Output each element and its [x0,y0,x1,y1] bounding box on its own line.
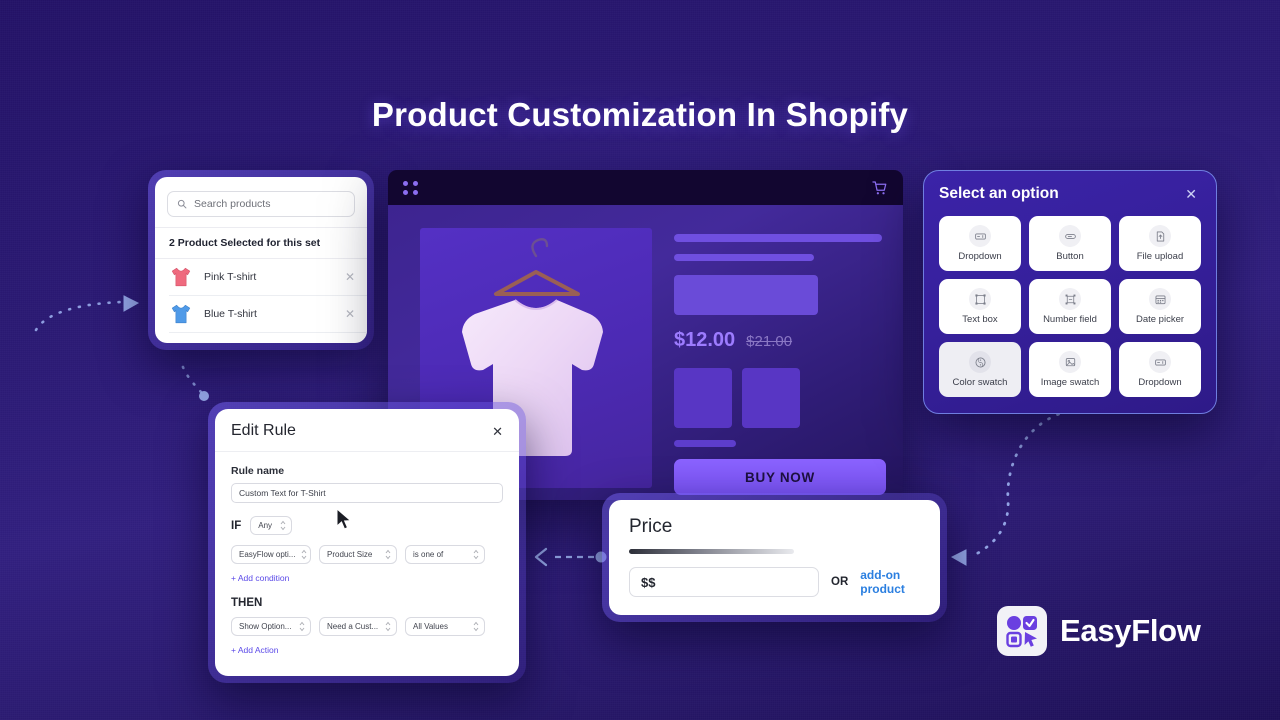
stepper-icon [385,621,391,632]
add-condition-link[interactable]: + Add condition [231,573,289,583]
option-label: Date picker [1136,314,1184,325]
option-label: Button [1056,251,1083,262]
list-item[interactable]: Blue T-shirt ✕ [155,296,367,332]
remove-product-icon[interactable]: ✕ [345,308,355,320]
selected-count-label: 2 Product Selected for this set [155,228,367,258]
list-item[interactable]: Pink T-shirt ✕ [155,259,367,295]
buy-now-button[interactable]: BUY NOW [674,459,886,495]
action-target-value: Need a Cust... [327,622,378,631]
then-keyword: THEN [231,597,503,609]
product-name: Pink T-shirt [204,271,334,283]
edit-rule-title: Edit Rule [231,422,296,440]
brand-logo: EasyFlow [997,606,1201,656]
original-price: $21.00 [746,333,792,350]
action-type-value: Show Option... [239,622,291,631]
option-label: Color swatch [953,377,1008,388]
page-title: Product Customization In Shopify [0,96,1280,134]
product-selection-panel: 2 Product Selected for this set Pink T-s… [148,170,374,350]
swatch-option[interactable] [742,368,800,428]
option-grid: Dropdown Button File upload Text box [939,216,1201,397]
search-input[interactable] [194,198,345,210]
search-products-box[interactable] [167,191,355,217]
skeleton-block [674,275,818,315]
color-swatch-icon [969,351,991,373]
edit-rule-header: Edit Rule ✕ [215,409,519,452]
option-label: Dropdown [958,251,1001,262]
rule-name-input[interactable] [231,483,503,503]
option-label: Image swatch [1041,377,1100,388]
option-label: Text box [962,314,997,325]
option-card-dropdown-2[interactable]: Dropdown [1119,342,1201,397]
stepper-icon [299,621,305,632]
dropdown-icon [969,225,991,247]
if-keyword: IF [231,520,241,532]
if-match-value: Any [258,521,272,530]
variant-swatches[interactable] [674,368,886,428]
tshirt-icon [169,266,193,288]
option-label: Dropdown [1138,377,1181,388]
price-title: Price [629,516,920,538]
stepper-icon [473,549,479,560]
option-card-file-upload[interactable]: File upload [1119,216,1201,271]
page-background: Product Customization In Shopify [0,0,1280,720]
option-card-image-swatch[interactable]: Image swatch [1029,342,1111,397]
stepper-icon [473,621,479,632]
option-card-dropdown[interactable]: Dropdown [939,216,1021,271]
grid-dots-icon[interactable] [403,181,419,195]
condition-operator-select[interactable]: is one of [405,545,485,564]
skeleton-line [674,254,814,261]
option-label: File upload [1137,251,1183,262]
close-icon[interactable]: ✕ [1181,185,1201,203]
condition-field-select[interactable]: Product Size [319,545,397,564]
option-label: Number field [1043,314,1097,325]
text-box-icon [969,288,991,310]
condition-source-select[interactable]: EasyFlow opti... [231,545,311,564]
stepper-icon [385,549,391,560]
if-match-select[interactable]: Any [250,516,292,535]
price-display: $12.00 $21.00 [674,329,886,352]
product-info: $12.00 $21.00 BUY NOW [674,228,886,500]
rule-name-label: Rule name [231,465,503,477]
or-label: OR [831,576,848,588]
button-icon [1059,225,1081,247]
option-panel-header: Select an option ✕ [939,185,1201,203]
storefront-topbar [388,170,903,205]
price-divider-bar [629,549,794,554]
current-price: $12.00 [674,329,735,352]
option-card-button[interactable]: Button [1029,216,1111,271]
image-swatch-icon [1059,351,1081,373]
condition-row: EasyFlow opti... Product Size is one of [231,545,503,564]
file-upload-icon [1149,225,1171,247]
edit-rule-modal: Edit Rule ✕ Rule name IF Any EasyFlow op… [208,402,526,683]
action-value: All Values [413,622,448,631]
condition-operator-value: is one of [413,550,443,559]
stepper-icon [301,549,307,560]
option-card-color-swatch[interactable]: Color swatch [939,342,1021,397]
edit-rule-body: Rule name IF Any EasyFlow opti... P [215,452,519,676]
addon-product-link[interactable]: add-on product [860,568,920,596]
price-input[interactable] [629,567,819,597]
easyflow-logo-icon [997,606,1047,656]
price-input-row: OR add-on product [629,567,920,597]
price-panel: Price OR add-on product [602,493,947,622]
option-panel-title: Select an option [939,185,1059,203]
remove-product-icon[interactable]: ✕ [345,271,355,283]
action-type-select[interactable]: Show Option... [231,617,311,636]
calendar-icon [1149,288,1171,310]
option-card-date-picker[interactable]: Date picker [1119,279,1201,334]
divider [169,332,367,333]
brand-name: EasyFlow [1060,613,1201,649]
number-field-icon [1059,288,1081,310]
action-value-select[interactable]: All Values [405,617,485,636]
condition-source-value: EasyFlow opti... [239,550,295,559]
action-target-select[interactable]: Need a Cust... [319,617,397,636]
shopping-cart-icon[interactable] [870,179,888,197]
search-icon [177,199,187,209]
close-icon[interactable]: ✕ [492,425,503,438]
add-action-link[interactable]: + Add Action [231,645,279,655]
stepper-icon [280,520,286,531]
select-option-panel: Select an option ✕ Dropdown Button [923,170,1217,414]
product-name: Blue T-shirt [204,308,334,320]
action-row: Show Option... Need a Cust... All Values [231,617,503,636]
skeleton-line [674,234,882,242]
if-row: IF Any [231,516,503,535]
swatch-option[interactable] [674,368,732,428]
skeleton-line [674,440,736,447]
condition-field-value: Product Size [327,550,372,559]
tshirt-icon [169,303,193,325]
option-card-number-field[interactable]: Number field [1029,279,1111,334]
dropdown-icon [1149,351,1171,373]
option-card-text-box[interactable]: Text box [939,279,1021,334]
